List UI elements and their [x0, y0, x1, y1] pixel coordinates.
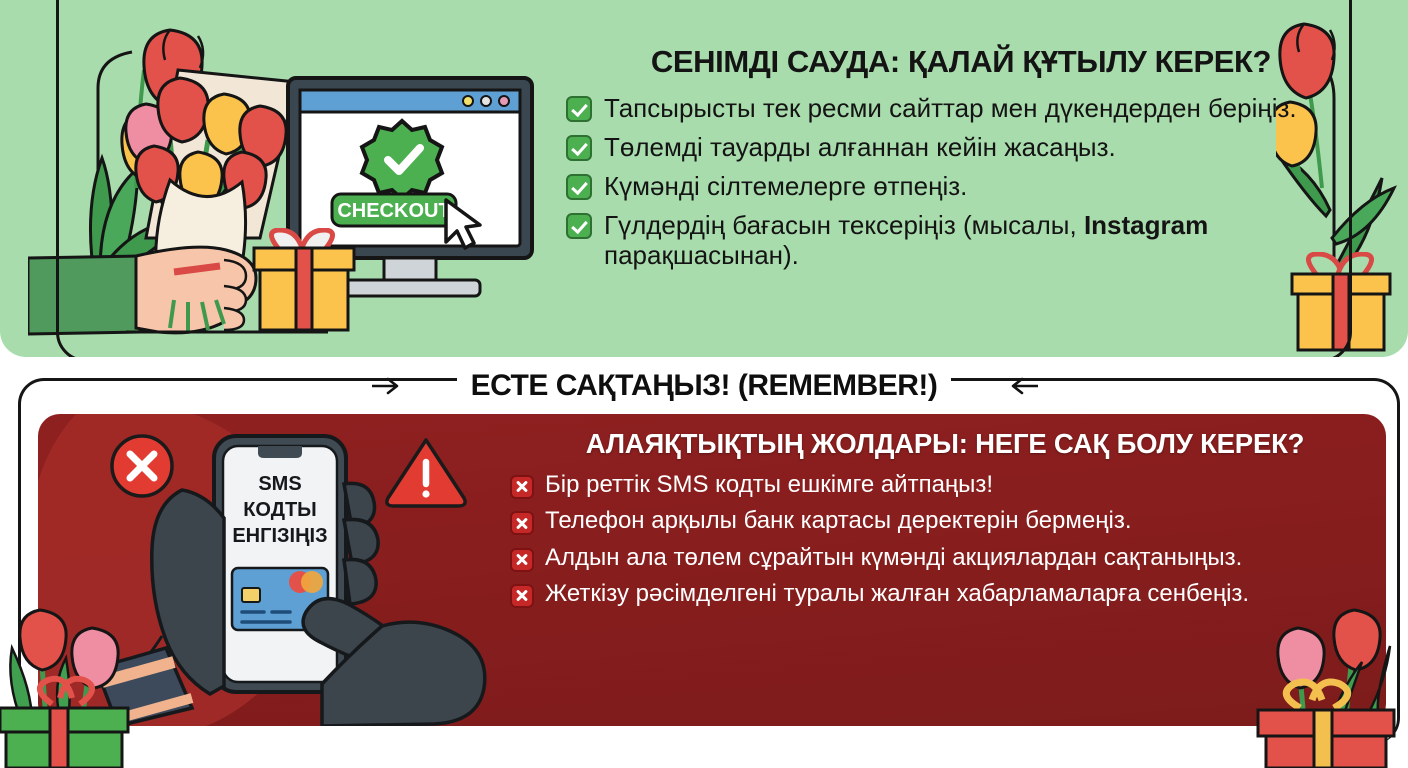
list-item-label: Бір реттік SMS кодты ешкімге айтпаңыз! [545, 471, 993, 499]
check-icon [566, 174, 592, 200]
list-item-label: Жеткізу рәсімделгені туралы жалған хабар… [545, 580, 1249, 608]
infographic-root: CHECKOUT [0, 0, 1408, 768]
scam-section-title: АЛАЯҚТЫҚТЫҢ ЖОЛДАРЫ: НЕГЕ САҚ БОЛУ КЕРЕК… [510, 430, 1380, 459]
list-item-label: Тапсырысты тек ресми сайттар мен дүкенде… [604, 93, 1297, 123]
safe-section-list: Тапсырысты тек ресми сайттар мен дүкенде… [566, 93, 1356, 271]
list-item: Алдын ала төлем сұрайтын күмәнді акцияла… [510, 544, 1380, 572]
check-icon [566, 96, 592, 122]
cross-icon [510, 548, 534, 572]
check-icon [566, 135, 592, 161]
cross-icon [510, 584, 534, 608]
list-item: Төлемді тауарды алғаннан кейін жасаңыз. [566, 132, 1356, 162]
scam-section-list: Бір реттік SMS кодты ешкімге айтпаңыз! Т… [510, 471, 1380, 608]
instagram-label: Instagram [1084, 210, 1208, 240]
list-item-text-pre: Гүлдердің бағасын тексеріңіз (мысалы, [604, 210, 1084, 240]
gift-box-green-with-tulips-icon [0, 592, 250, 768]
list-item: Күмәнді сілтемелерге өтпеңіз. [566, 171, 1356, 201]
error-circle-icon [112, 436, 172, 496]
remember-banner-title: ЕСТЕ САҚТАҢЫЗ! (REMEMBER!) [457, 369, 952, 403]
list-item-label: Гүлдердің бағасын тексеріңіз (мысалы, In… [604, 210, 1356, 270]
list-item-label: Алдын ала төлем сұрайтын күмәнді акцияла… [545, 544, 1242, 572]
list-item: Тапсырысты тек ресми сайттар мен дүкенде… [566, 93, 1356, 123]
safe-section-title: СЕНІМДІ САУДА: ҚАЛАЙ ҚҰТЫЛУ КЕРЕК? [566, 46, 1356, 79]
cross-icon [510, 511, 534, 535]
cross-icon [510, 475, 534, 499]
list-item-label: Төлемді тауарды алғаннан кейін жасаңыз. [604, 132, 1116, 162]
safe-section-content: СЕНІМДІ САУДА: ҚАЛАЙ ҚҰТЫЛУ КЕРЕК? Тапсы… [566, 46, 1356, 270]
list-item-label: Телефон арқылы банк картасы деректерін б… [545, 507, 1132, 535]
phone-screen-line-1: SMS [258, 473, 301, 495]
list-item: Гүлдердің бағасын тексеріңіз (мысалы, In… [566, 210, 1356, 270]
gift-box-red-with-tulips-icon [1238, 596, 1408, 768]
list-item: Телефон арқылы банк картасы деректерін б… [510, 507, 1380, 535]
phone-screen-line-2: КОДТЫ [243, 499, 317, 521]
check-icon [566, 213, 592, 239]
list-item-label: Күмәнді сілтемелерге өтпеңіз. [604, 171, 967, 201]
warning-triangle-icon [387, 440, 465, 506]
scam-section-content: АЛАЯҚТЫҚТЫҢ ЖОЛДАРЫ: НЕГЕ САҚ БОЛУ КЕРЕК… [510, 430, 1380, 616]
list-item: Бір реттік SMS кодты ешкімге айтпаңыз! [510, 471, 1380, 499]
list-item-text-post: парақшасынан). [604, 240, 799, 270]
phone-screen-line-3: ЕНГІЗІҢІЗ [232, 525, 327, 547]
